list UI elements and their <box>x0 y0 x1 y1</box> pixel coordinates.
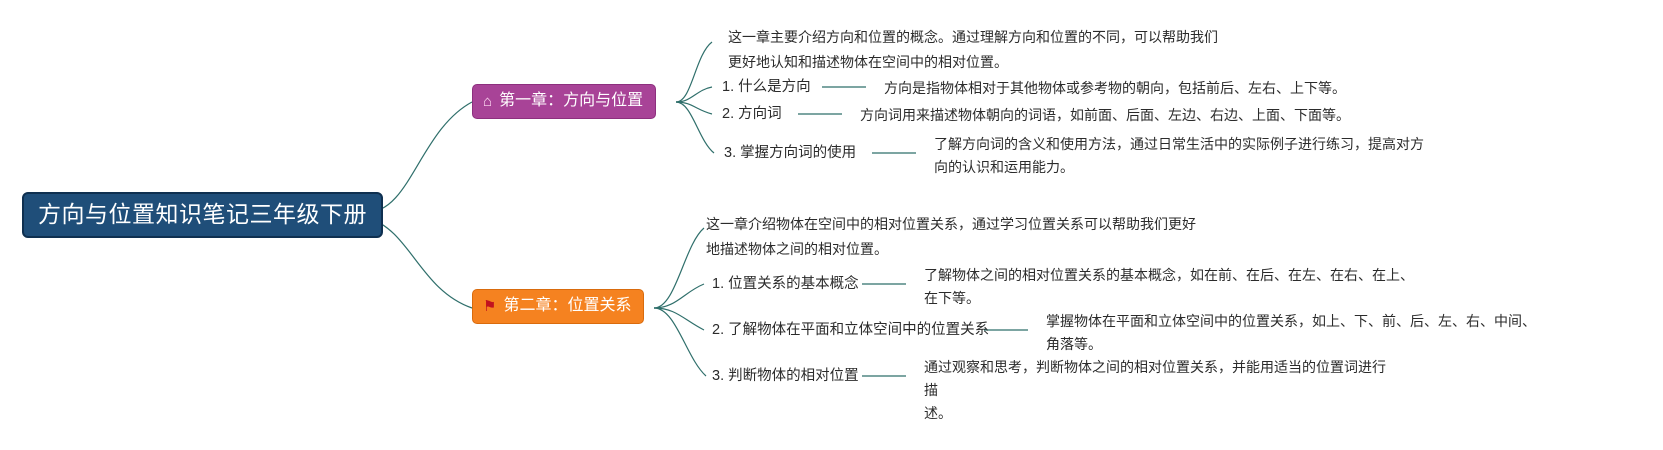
detail-line: 通过观察和思考，判断物体之间的相对位置关系，并能用适当的位置词进行描 <box>924 356 1394 402</box>
branch-node-chapter-1-label: 第一章：方向与位置 <box>499 90 643 112</box>
branch-node-chapter-1[interactable]: ⌂ 第一章：方向与位置 <box>472 84 656 119</box>
topic-node-2-1[interactable]: 1. 位置关系的基本概念 <box>712 274 859 294</box>
topic-node-2-3[interactable]: 3. 判断物体的相对位置 <box>712 366 859 386</box>
topic-node-1-2-label: 2. 方向词 <box>722 106 782 122</box>
topic-node-1-1[interactable]: 1. 什么是方向 <box>722 77 811 97</box>
detail-line: 向的认识和运用能力。 <box>934 156 1434 179</box>
branch-node-chapter-2-label: 第二章：位置关系 <box>503 295 631 317</box>
topic-node-2-2-label: 2. 了解物体在平面和立体空间中的位置关系 <box>712 322 989 338</box>
branch-node-chapter-2[interactable]: ⚑ 第二章：位置关系 <box>472 289 644 324</box>
topic-node-1-2[interactable]: 2. 方向词 <box>722 104 782 124</box>
topic-node-2-2[interactable]: 2. 了解物体在平面和立体空间中的位置关系 <box>712 320 989 340</box>
summary-line: 地描述物体之间的相对位置。 <box>706 237 1226 262</box>
detail-2-2: 掌握物体在平面和立体空间中的位置关系，如上、下、前、后、左、右、中间、 角落等。 <box>1046 310 1566 356</box>
mindmap-canvas: 方向与位置知识笔记三年级下册 ⌂ 第一章：方向与位置 这一章主要介绍方向和位置的… <box>0 0 1663 450</box>
detail-2-1: 了解物体之间的相对位置关系的基本概念，如在前、在后、在左、在右、在上、 在下等。 <box>924 264 1444 310</box>
detail-line: 了解物体之间的相对位置关系的基本概念，如在前、在后、在左、在右、在上、 <box>924 264 1444 287</box>
topic-node-1-3-label: 3. 掌握方向词的使用 <box>724 145 856 161</box>
detail-line: 述。 <box>924 402 1394 425</box>
detail-line: 了解方向词的含义和使用方法，通过日常生活中的实际例子进行练习，提高对方 <box>934 133 1434 156</box>
summary-line: 这一章主要介绍方向和位置的概念。通过理解方向和位置的不同，可以帮助我们 <box>728 25 1248 50</box>
flag-icon: ⚑ <box>483 299 496 314</box>
detail-line: 在下等。 <box>924 287 1444 310</box>
topic-node-1-3[interactable]: 3. 掌握方向词的使用 <box>724 143 856 163</box>
topic-node-2-3-label: 3. 判断物体的相对位置 <box>712 368 859 384</box>
house-icon: ⌂ <box>483 94 492 109</box>
detail-1-2: 方向词用来描述物体朝向的词语，如前面、后面、左边、右边、上面、下面等。 <box>860 104 1480 127</box>
summary-line: 更好地认知和描述物体在空间中的相对位置。 <box>728 50 1248 75</box>
summary-line: 这一章介绍物体在空间中的相对位置关系，通过学习位置关系可以帮助我们更好 <box>706 212 1226 237</box>
summary-chapter-1: 这一章主要介绍方向和位置的概念。通过理解方向和位置的不同，可以帮助我们 更好地认… <box>728 25 1248 75</box>
detail-2-3: 通过观察和思考，判断物体之间的相对位置关系，并能用适当的位置词进行描 述。 <box>924 356 1394 425</box>
detail-line: 方向是指物体相对于其他物体或参考物的朝向，包括前后、左右、上下等。 <box>884 77 1484 100</box>
topic-node-1-1-label: 1. 什么是方向 <box>722 79 811 95</box>
detail-1-1: 方向是指物体相对于其他物体或参考物的朝向，包括前后、左右、上下等。 <box>884 77 1484 100</box>
detail-line: 掌握物体在平面和立体空间中的位置关系，如上、下、前、后、左、右、中间、 <box>1046 310 1566 333</box>
detail-1-3: 了解方向词的含义和使用方法，通过日常生活中的实际例子进行练习，提高对方 向的认识… <box>934 133 1434 179</box>
topic-node-2-1-label: 1. 位置关系的基本概念 <box>712 276 859 292</box>
root-node[interactable]: 方向与位置知识笔记三年级下册 <box>22 192 383 238</box>
detail-line: 角落等。 <box>1046 333 1566 356</box>
summary-chapter-2: 这一章介绍物体在空间中的相对位置关系，通过学习位置关系可以帮助我们更好 地描述物… <box>706 212 1226 262</box>
root-node-label: 方向与位置知识笔记三年级下册 <box>38 201 367 227</box>
detail-line: 方向词用来描述物体朝向的词语，如前面、后面、左边、右边、上面、下面等。 <box>860 104 1480 127</box>
